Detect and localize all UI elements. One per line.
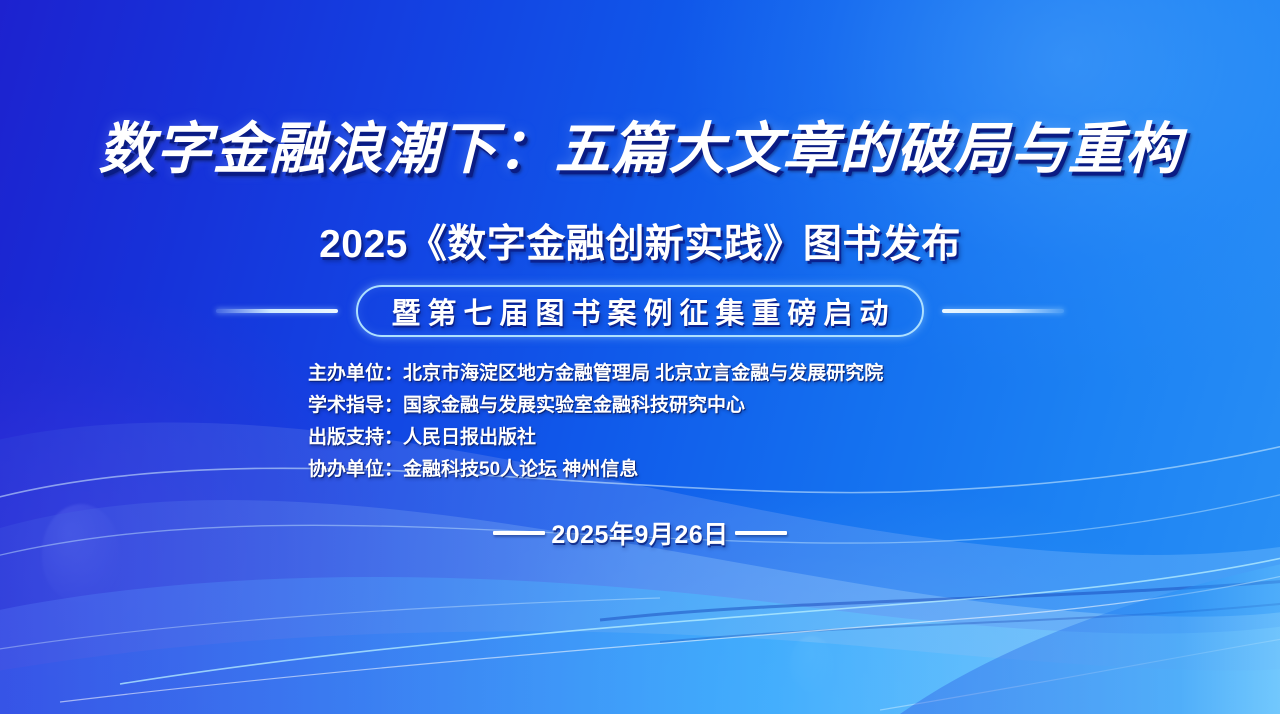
event-date: 2025年9月26日 bbox=[551, 515, 728, 551]
highlight-banner-label: 暨第七届图书案例征集重磅启动 bbox=[384, 290, 895, 332]
page-title: 数字金融浪潮下：五篇大文章的破局与重构 bbox=[0, 104, 1280, 185]
poster-content: 数字金融浪潮下：五篇大文章的破局与重构 2025《数字金融创新实践》图书发布 暨… bbox=[0, 0, 1280, 714]
date-dash-left bbox=[493, 531, 545, 535]
poster-canvas: 数字金融浪潮下：五篇大文章的破局与重构 2025《数字金融创新实践》图书发布 暨… bbox=[0, 0, 1280, 714]
credit-line-coorganizer: 协办单位：金融科技50人论坛 神州信息 bbox=[292, 454, 988, 486]
credit-line-publisher: 出版支持：人民日报出版社 bbox=[292, 422, 988, 454]
credits-block: 主办单位：北京市海淀区地方金融管理局 北京立言金融与发展研究院 学术指导：国家金… bbox=[0, 358, 1280, 486]
decorative-rule-right bbox=[942, 309, 1064, 313]
credit-line-organizer: 主办单位：北京市海淀区地方金融管理局 北京立言金融与发展研究院 bbox=[292, 358, 988, 390]
page-subtitle: 2025《数字金融创新实践》图书发布 bbox=[0, 213, 1280, 269]
credit-line-academic: 学术指导：国家金融与发展实验室金融科技研究中心 bbox=[292, 390, 988, 422]
decorative-rule-left bbox=[216, 309, 338, 313]
event-date-row: 2025年9月26日 bbox=[0, 515, 1280, 551]
highlight-banner-row: 暨第七届图书案例征集重磅启动 bbox=[0, 286, 1280, 336]
highlight-banner: 暨第七届图书案例征集重磅启动 bbox=[356, 285, 923, 337]
date-dash-right bbox=[735, 531, 787, 535]
